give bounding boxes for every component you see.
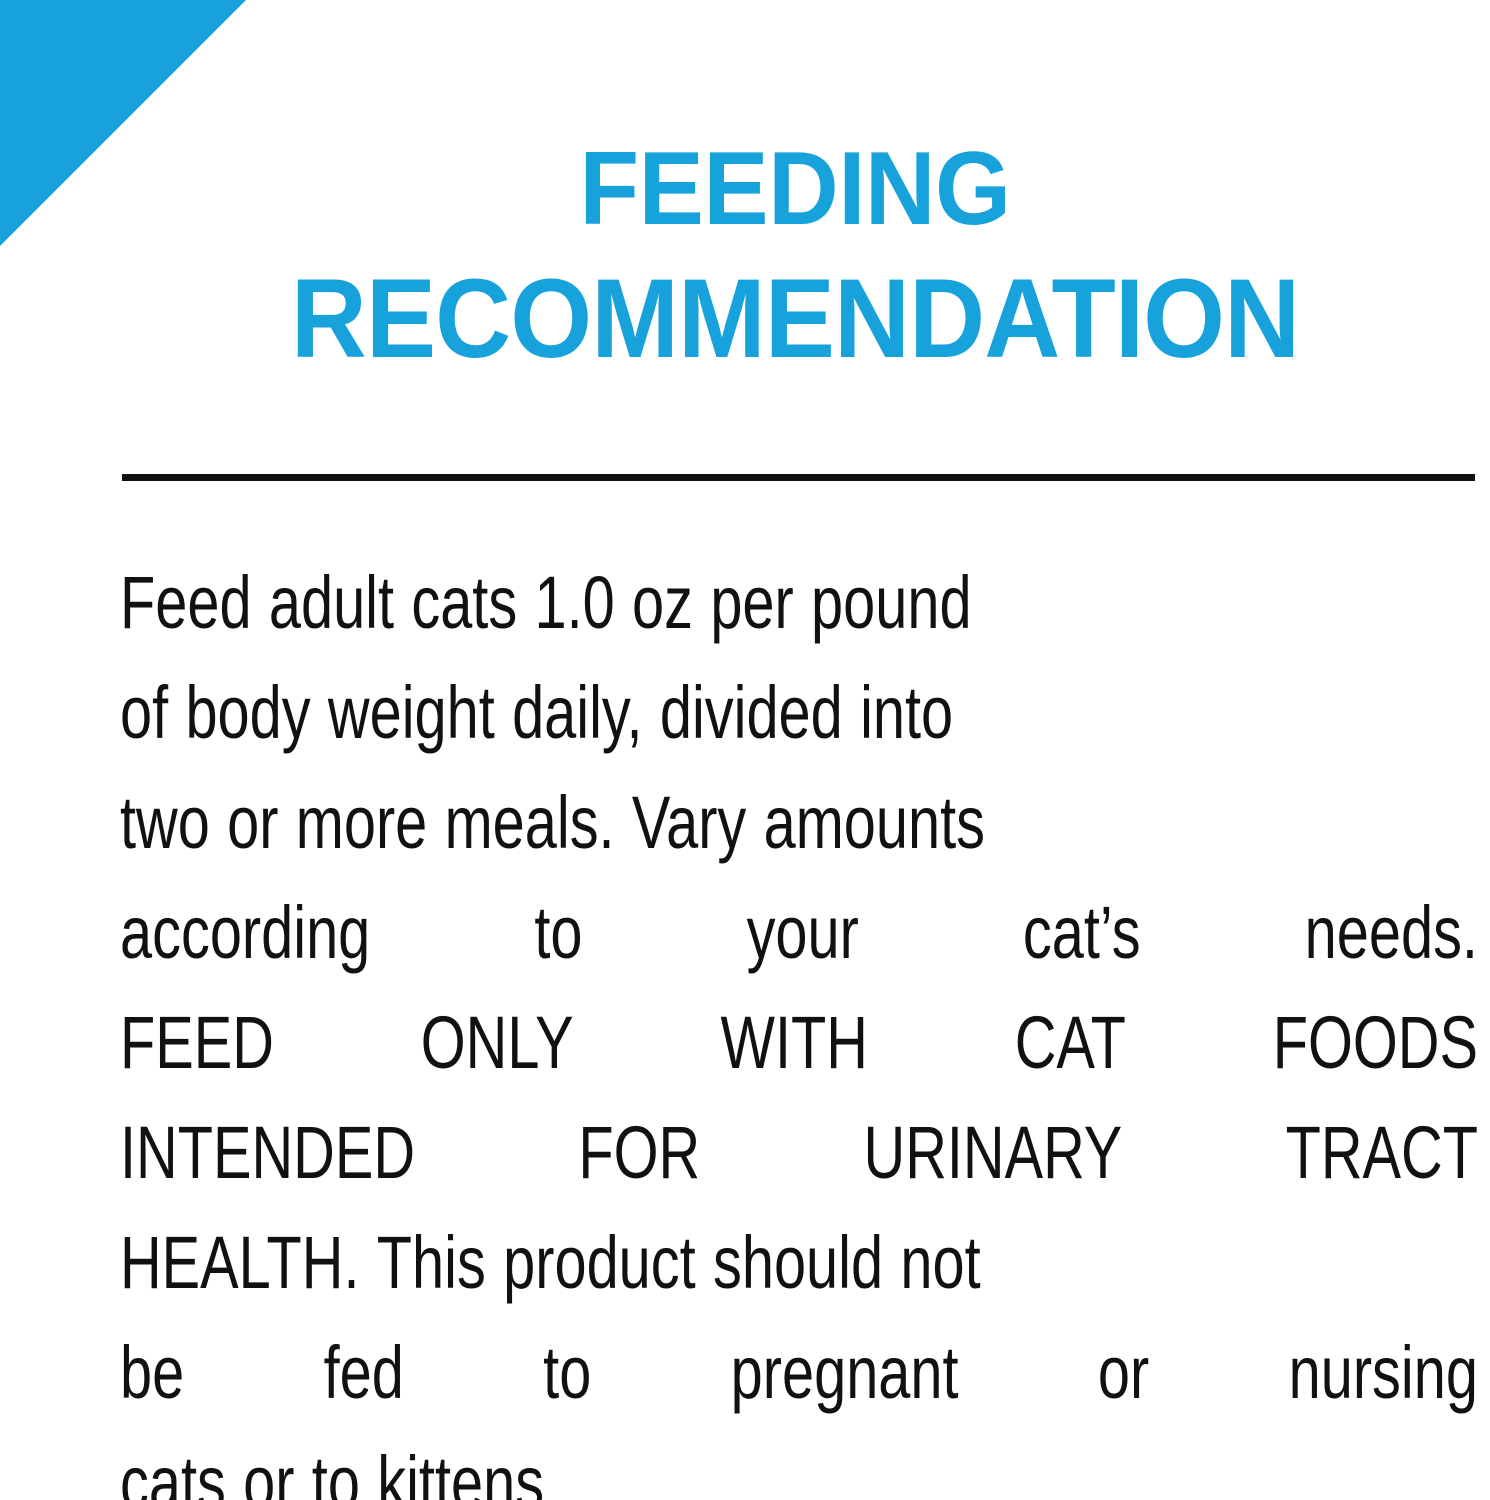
instruction-line: accordingtoyourcat’sneeds. <box>120 878 1478 988</box>
instruction-word: meals. <box>445 768 615 878</box>
title-divider <box>122 474 1475 481</box>
instruction-word: two <box>120 768 210 878</box>
page-title-line-2: RECOMMENDATION <box>151 254 1439 384</box>
instruction-word: per <box>710 548 793 658</box>
instruction-line: HEALTH.Thisproductshouldnot <box>120 1208 1478 1318</box>
instruction-line: FEEDONLYWITHCATFOODS <box>120 988 1478 1098</box>
instruction-word: URINARY <box>864 1098 1123 1208</box>
instruction-word: cat’s <box>1023 878 1141 988</box>
instruction-word: Feed <box>120 548 252 658</box>
instruction-word: into <box>860 658 953 768</box>
instruction-line: Feedadultcats1.0ozperpound <box>120 548 1478 658</box>
instruction-word: This <box>377 1208 486 1318</box>
instruction-word: nursing <box>1289 1318 1478 1428</box>
instruction-word: ONLY <box>421 988 574 1098</box>
instruction-word: to <box>543 1318 591 1428</box>
instruction-word: or <box>227 768 278 878</box>
instruction-word: your <box>747 878 859 988</box>
instruction-word: TRACT <box>1286 1098 1478 1208</box>
instruction-word: daily, <box>512 658 642 768</box>
instruction-word: FOR <box>578 1098 700 1208</box>
instruction-word: or <box>243 1428 294 1500</box>
instruction-word: should <box>713 1208 883 1318</box>
instruction-word: 1.0 <box>535 548 615 658</box>
feeding-recommendation-panel: FEEDING RECOMMENDATION Feedadultcats1.0o… <box>0 0 1490 1500</box>
instruction-word: to <box>312 1428 360 1500</box>
instruction-word: needs. <box>1305 878 1478 988</box>
instruction-word: not <box>900 1208 980 1318</box>
instruction-word: cats <box>120 1428 226 1500</box>
page-title-line-1: FEEDING <box>151 124 1439 254</box>
instruction-word: WITH <box>720 988 867 1098</box>
instruction-word: pound <box>811 548 972 658</box>
instruction-word: body <box>185 658 310 768</box>
instruction-word: according <box>120 878 370 988</box>
instruction-word: of <box>120 658 168 768</box>
instruction-word: oz <box>632 548 693 658</box>
instruction-word: FEED <box>120 988 274 1098</box>
instruction-word: cats <box>411 548 517 658</box>
instruction-word: INTENDED <box>120 1098 415 1208</box>
instruction-word: HEALTH. <box>120 1208 359 1318</box>
instruction-line: twoormoremeals.Varyamounts <box>120 768 1478 878</box>
instruction-word: weight <box>328 658 495 768</box>
instruction-word: divided <box>660 658 843 768</box>
instruction-word: to <box>534 878 582 988</box>
instruction-word: fed <box>324 1318 404 1428</box>
instruction-line: catsortokittens. <box>120 1428 1478 1500</box>
instruction-line: ofbodyweightdaily,dividedinto <box>120 658 1478 768</box>
instruction-word: pregnant <box>731 1318 959 1428</box>
instruction-word: or <box>1098 1318 1149 1428</box>
instruction-word: FOODS <box>1273 988 1478 1098</box>
instruction-word: kittens. <box>377 1428 560 1500</box>
instruction-word: product <box>503 1208 696 1318</box>
instruction-word: amounts <box>764 768 985 878</box>
instruction-word: Vary <box>632 768 746 878</box>
instruction-word: be <box>120 1318 184 1428</box>
instruction-line: befedtopregnantornursing <box>120 1318 1478 1428</box>
instruction-word: more <box>296 768 428 878</box>
instruction-word: adult <box>269 548 394 658</box>
instruction-word: CAT <box>1015 988 1126 1098</box>
page-title: FEEDING RECOMMENDATION <box>151 124 1439 384</box>
instruction-line: INTENDEDFORURINARYTRACT <box>120 1098 1478 1208</box>
feeding-instructions-text: Feedadultcats1.0ozperpoundofbodyweightda… <box>120 548 1478 1500</box>
